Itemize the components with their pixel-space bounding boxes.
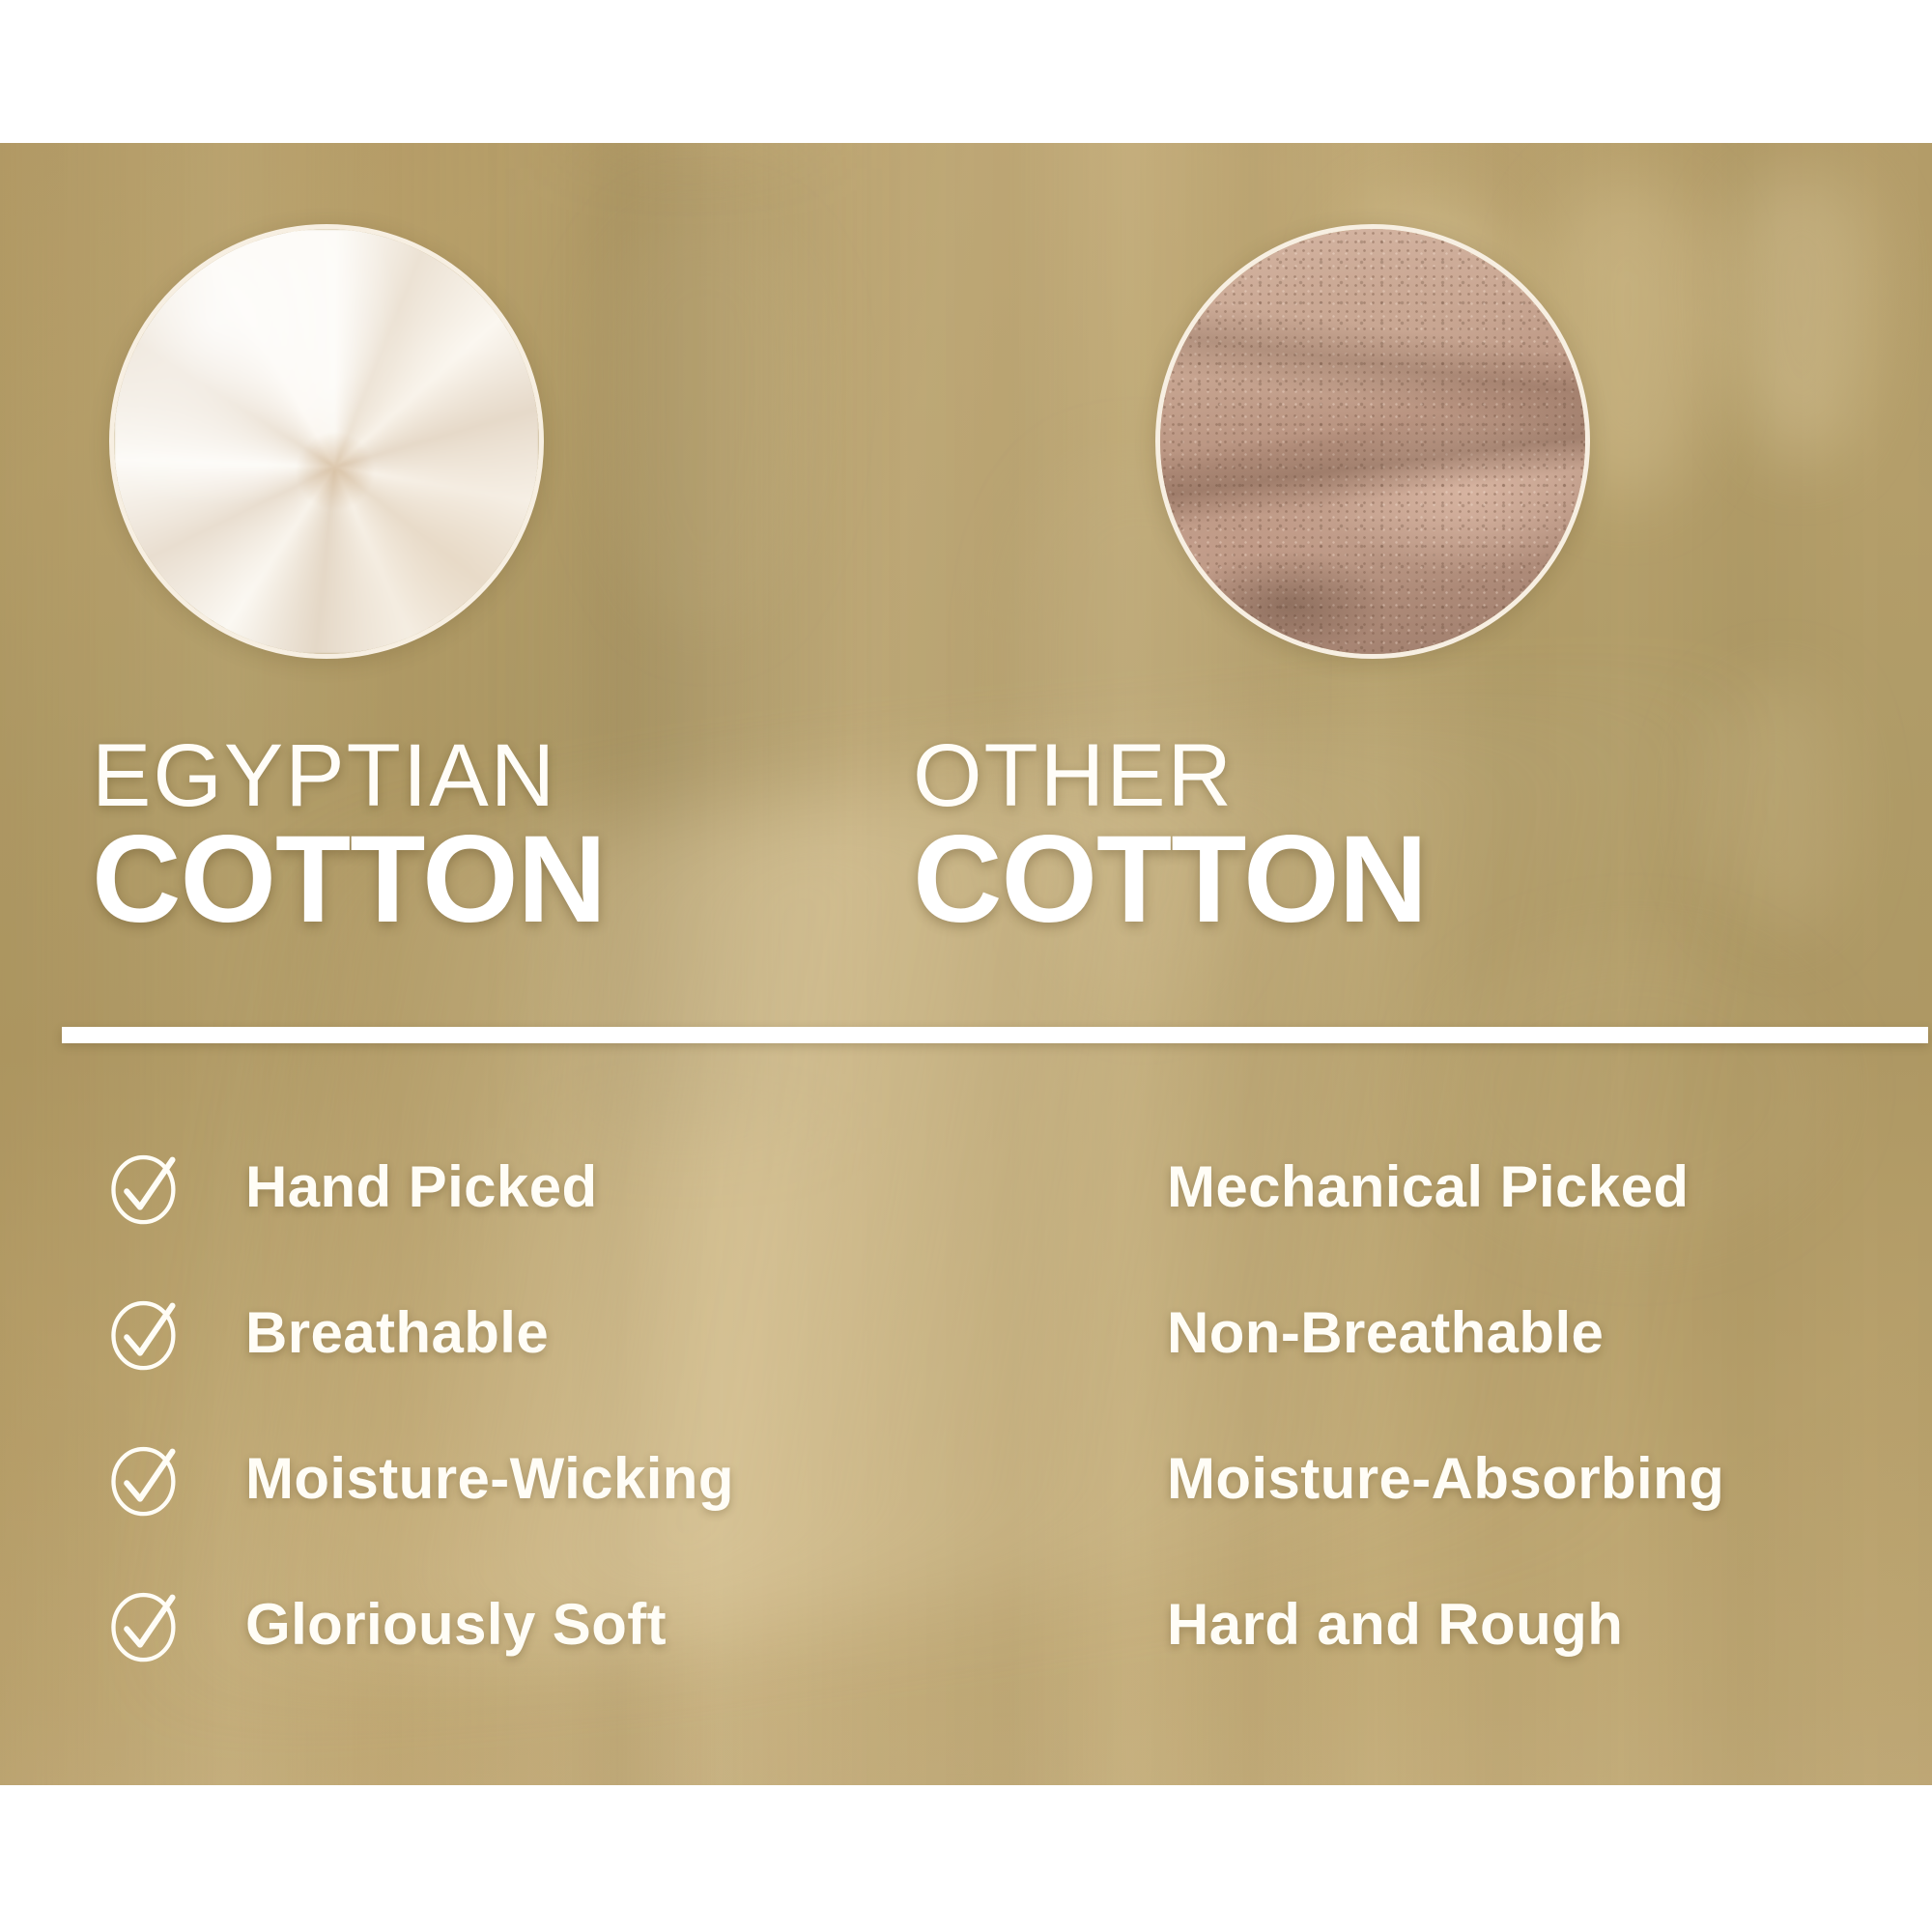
feature-label: Gloriously Soft [245, 1591, 667, 1658]
bottom-white-band [0, 1785, 1932, 1932]
feature-label: Breathable [245, 1299, 549, 1366]
table-row: Breathable Non-Breathable [0, 1260, 1932, 1406]
feature-label: Moisture-Wicking [245, 1445, 734, 1512]
check-circle-handdrawn-icon [104, 1583, 187, 1666]
section-divider [62, 1027, 1928, 1043]
fabric-swatch-rough-circle [1155, 224, 1590, 659]
check-circle-handdrawn-icon [104, 1146, 187, 1229]
table-row: Moisture-Wicking Moisture-Absorbing [0, 1406, 1932, 1551]
feature-cell-egyptian: Moisture-Wicking [104, 1406, 734, 1551]
check-circle-handdrawn-icon [104, 1292, 187, 1375]
heading-other-bottom: COTTON [913, 823, 1427, 937]
feature-label: Mechanical Picked [1167, 1153, 1689, 1220]
heading-other: OTHER COTTON [913, 732, 1427, 937]
feature-label: Non-Breathable [1167, 1299, 1604, 1366]
heading-egyptian: EGYPTIAN COTTON [92, 732, 606, 937]
heading-egyptian-bottom: COTTON [92, 823, 606, 937]
silk-texture [114, 229, 539, 654]
feature-comparison-list: Hand Picked Mechanical Picked Breathable… [0, 1114, 1932, 1697]
feature-label: Moisture-Absorbing [1167, 1445, 1724, 1512]
check-circle-handdrawn-icon [104, 1437, 187, 1520]
fabric-swatch-silk-circle [109, 224, 544, 659]
top-white-band [0, 0, 1932, 143]
heading-egyptian-top: EGYPTIAN [92, 732, 606, 819]
rough-texture [1160, 229, 1585, 654]
feature-cell-other: Hard and Rough [1167, 1551, 1623, 1697]
heading-other-top: OTHER [913, 732, 1427, 819]
feature-cell-other: Mechanical Picked [1167, 1114, 1689, 1260]
feature-cell-other: Moisture-Absorbing [1167, 1406, 1724, 1551]
feature-cell-egyptian: Breathable [104, 1260, 549, 1406]
comparison-infographic: EGYPTIAN COTTON OTHER COTTON Hand Picked [0, 0, 1932, 1932]
feature-cell-other: Non-Breathable [1167, 1260, 1604, 1406]
table-row: Gloriously Soft Hard and Rough [0, 1551, 1932, 1697]
table-row: Hand Picked Mechanical Picked [0, 1114, 1932, 1260]
content-area: EGYPTIAN COTTON OTHER COTTON Hand Picked [0, 143, 1932, 1785]
feature-cell-egyptian: Hand Picked [104, 1114, 598, 1260]
feature-label: Hand Picked [245, 1153, 598, 1220]
feature-label: Hard and Rough [1167, 1591, 1623, 1658]
feature-cell-egyptian: Gloriously Soft [104, 1551, 667, 1697]
